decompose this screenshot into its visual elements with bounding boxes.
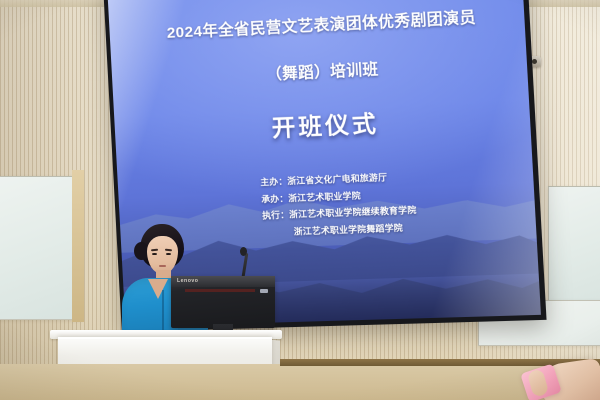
whiteboard-panel-left — [0, 176, 82, 320]
credit-role: 执行： — [262, 209, 290, 220]
credit-role: 承办： — [261, 193, 289, 204]
slide-title-line1: 2024年全省民营文艺表演团体优秀剧团演员 — [121, 3, 524, 46]
credit-org: 浙江艺术职业学院舞蹈学院 — [294, 222, 404, 236]
microphone-head-icon — [240, 247, 247, 256]
speaker-collar — [148, 279, 168, 299]
speaker-face — [147, 236, 178, 274]
slide-credits: 主办：浙江省文化广电和旅游厅 承办：浙江艺术职业学院 执行：浙江艺术职业学院继续… — [260, 164, 513, 241]
monitor-led-indicator — [260, 289, 268, 293]
credit-org: 浙江省文化广电和旅游厅 — [287, 172, 387, 186]
credit-org: 浙江艺术职业学院 — [288, 190, 361, 203]
speaker-mouth — [159, 265, 166, 267]
credit-org: 浙江艺术职业学院继续教育学院 — [289, 205, 417, 220]
whiteboard-panel-right — [548, 186, 600, 306]
slide-title-line2: （舞蹈）培训班 — [124, 50, 527, 91]
wood-trim-left — [72, 170, 84, 322]
floor — [0, 364, 600, 400]
monitor-brand-label: Lenovo — [177, 278, 198, 284]
lenovo-monitor: Lenovo — [171, 276, 275, 328]
slide-main-heading: 开班仪式 — [126, 97, 530, 149]
monitor-vent-strip — [185, 289, 255, 292]
credit-role: 主办： — [260, 176, 288, 187]
photo-scene: 2024年全省民营文艺表演团体优秀剧团演员 （舞蹈）培训班 开班仪式 主办：浙江… — [0, 0, 600, 400]
